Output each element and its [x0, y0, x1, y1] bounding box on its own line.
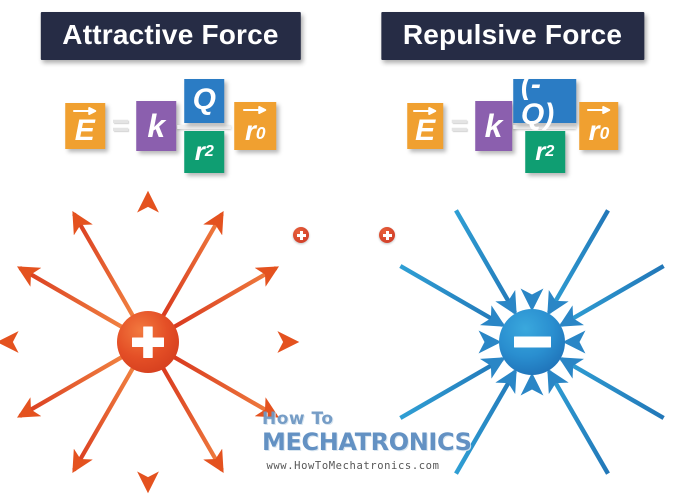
field-line	[561, 266, 663, 325]
field-line	[163, 368, 222, 470]
formula-equals-sign: =	[105, 109, 137, 143]
formula-label-denominator-exponent: 2	[545, 143, 554, 159]
watermark-url: www.HowToMechatronics.com	[258, 460, 448, 472]
field-line	[74, 214, 133, 316]
formula-box-numerator: (-Q)	[513, 79, 577, 123]
test-charge-positive-right	[379, 227, 395, 243]
field-line	[174, 268, 276, 327]
formula-label-denominator-exponent: 2	[205, 143, 214, 159]
watermark-line-1: How To	[262, 411, 472, 428]
formula-repulsive: E = k (-Q) r2 r0	[407, 78, 619, 174]
formula-label-k: k	[147, 110, 165, 142]
formula-box-k: k	[475, 101, 512, 151]
panel-title-repulsive: Repulsive Force	[381, 12, 644, 60]
formula-label-unit-vector: r	[245, 117, 256, 145]
field-line	[20, 268, 122, 327]
formula-label-k: k	[485, 110, 503, 142]
panel-title-attractive: Attractive Force	[40, 12, 300, 60]
formula-label-unit-vector-sub: 0	[256, 125, 266, 142]
formula-label-E: E	[75, 116, 95, 146]
formula-box-E-vector: E	[407, 103, 444, 149]
formula-box-unit-vector: r0	[580, 102, 619, 150]
field-line	[561, 359, 663, 418]
formula-label-denominator: r	[195, 138, 205, 164]
formula-fraction: (-Q) r2	[513, 78, 577, 174]
formula-box-denominator: r2	[525, 131, 565, 173]
watermark-line-2: MECHATRONICS	[262, 430, 472, 454]
formula-label-numerator: (-Q)	[521, 70, 569, 130]
field-line	[549, 371, 608, 473]
field-line	[20, 357, 122, 416]
field-line	[400, 266, 502, 325]
fraction-bar	[177, 125, 231, 129]
vector-arrow-icon	[412, 107, 438, 115]
formula-label-unit-vector-sub: 0	[600, 125, 610, 142]
formula-box-unit-vector: r0	[234, 102, 276, 150]
formula-equals-sign: =	[444, 109, 476, 143]
minus-sign-icon	[514, 337, 551, 348]
formula-box-numerator: Q	[184, 79, 224, 123]
vector-arrow-icon	[242, 106, 268, 114]
vector-arrow-icon	[72, 107, 98, 115]
formula-label-E: E	[415, 116, 435, 146]
formula-attractive: E = k Q r2 r0	[65, 78, 277, 174]
formula-box-denominator: r2	[184, 131, 224, 173]
formula-fraction: Q r2	[177, 78, 231, 174]
test-charge-positive-left	[293, 227, 309, 243]
formula-label-unit-vector: r	[589, 117, 600, 145]
field-line	[74, 368, 133, 470]
field-line	[163, 214, 222, 316]
vector-arrow-icon	[586, 106, 612, 114]
formula-box-E-vector: E	[65, 103, 105, 149]
formula-box-k: k	[136, 101, 176, 151]
watermark-logo: How To MECHATRONICS www.HowToMechatronic…	[258, 396, 448, 478]
field-line	[549, 210, 608, 312]
field-line	[456, 210, 515, 312]
formula-label-numerator: Q	[193, 85, 216, 115]
formula-label-denominator: r	[535, 138, 545, 164]
